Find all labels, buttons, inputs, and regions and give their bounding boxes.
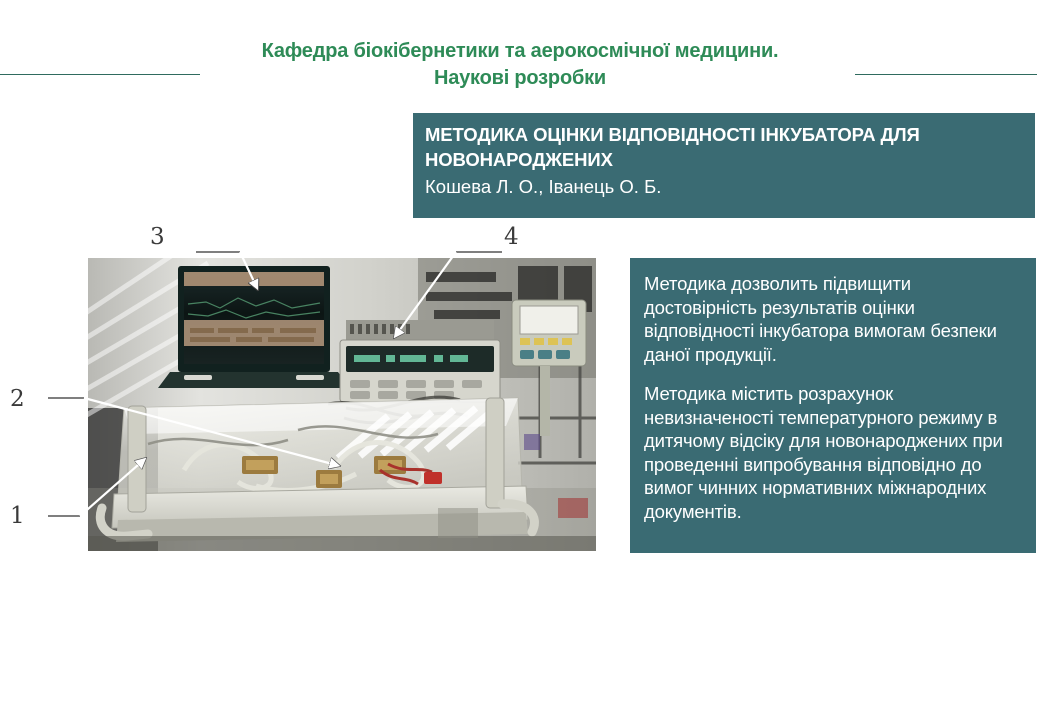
header-authors: Кошева Л. О., Іванець О. Б. xyxy=(425,174,1023,199)
callout-number-1: 1 xyxy=(10,505,25,528)
header-title: МЕТОДИКА ОЦІНКИ ВІДПОВІДНОСТІ ІНКУБАТОРА… xyxy=(425,122,1023,172)
header-banner: МЕТОДИКА ОЦІНКИ ВІДПОВІДНОСТІ ІНКУБАТОРА… xyxy=(413,113,1035,218)
body-text-panel: Методика дозволить підвищити достовірніс… xyxy=(630,258,1036,553)
callout-number-2: 2 xyxy=(10,388,25,411)
callout-number-4: 4 xyxy=(504,226,519,249)
incubator-photo-graphic xyxy=(88,258,596,551)
page-title: Кафедра біокібернетики та аерокосмічної … xyxy=(0,38,1040,92)
callout-number-3: 3 xyxy=(150,226,165,249)
body-paragraph-2: Методика містить розрахунок невизначенос… xyxy=(644,382,1022,523)
title-line-2: Наукові розробки xyxy=(0,65,1040,92)
body-paragraph-1: Методика дозволить підвищити достовірніс… xyxy=(644,272,1022,366)
incubator-photo xyxy=(88,258,596,551)
slide-root: Кафедра біокібернетики та аерокосмічної … xyxy=(0,0,1040,720)
laptop-graphic xyxy=(158,266,350,388)
measuring-instrument-graphic xyxy=(340,320,500,402)
title-line-1: Кафедра біокібернетики та аерокосмічної … xyxy=(0,38,1040,65)
title-rule-right xyxy=(855,74,1037,75)
title-rule-left xyxy=(0,74,200,75)
